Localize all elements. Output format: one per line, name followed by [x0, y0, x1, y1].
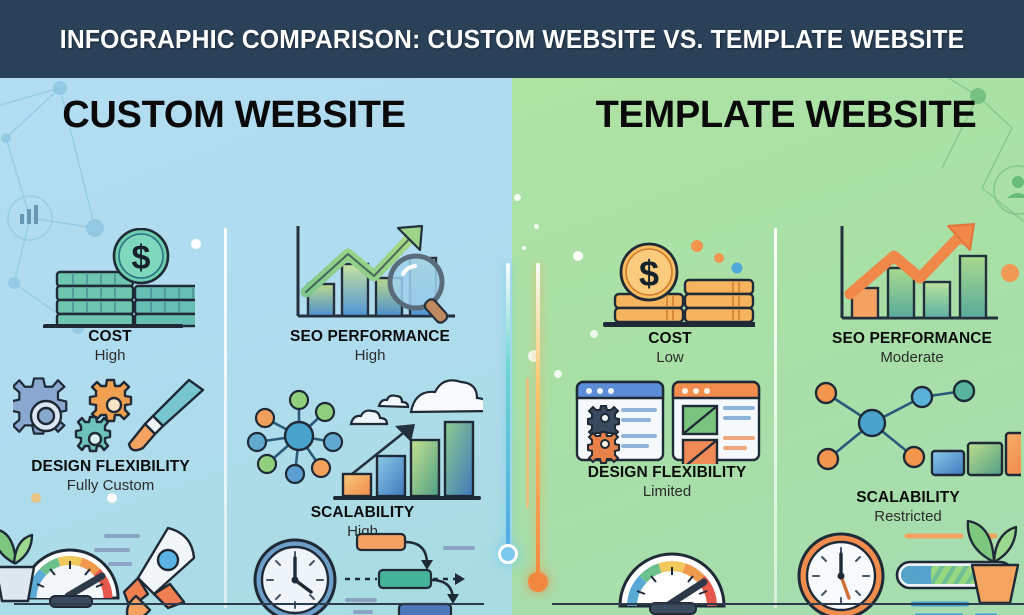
feature-development-time: DEVELOPMENT TIME Quick — [568, 524, 778, 615]
bar-chart-magnifier-icon — [255, 218, 485, 328]
comparison-panels: CUSTOM WEBSITE — [0, 78, 1024, 615]
feature-value: High — [10, 347, 210, 364]
feature-design-flexibility: DESIGN FLEXIBILITY Limited — [556, 378, 778, 500]
panel-template-website: TEMPLATE WEBSITE — [512, 78, 1024, 615]
gears-paintbrush-icon — [8, 374, 213, 458]
infographic-canvas: INFOGRAPHIC COMPARISON: CUSTOM WEBSITE V… — [0, 0, 1024, 615]
feature-label: DESIGN FLEXIBILITY — [8, 458, 213, 476]
svg-text:$: $ — [132, 239, 151, 277]
feature-label: SCALABILITY — [240, 504, 485, 522]
feature-value: Low — [570, 349, 770, 366]
feature-seo-performance: SEO PERFORMANCE Moderate — [802, 218, 1022, 366]
money-coins-icon: $ — [10, 228, 210, 328]
feature-scalability: SCALABILITY Restricted — [792, 373, 1024, 525]
panel-column-divider — [224, 228, 227, 608]
svg-text:$: $ — [639, 253, 659, 294]
gauge-icon — [568, 524, 778, 615]
plant-decoration-icon — [958, 509, 1024, 605]
header-bar: INFOGRAPHIC COMPARISON: CUSTOM WEBSITE V… — [0, 0, 1024, 78]
bar-chart-arrow-icon — [802, 218, 1022, 330]
feature-label: COST — [570, 330, 770, 348]
browser-templates-icon — [556, 378, 778, 464]
feature-scalability: SCALABILITY High — [240, 378, 485, 540]
panel-base-rule — [14, 603, 484, 605]
feature-value: High — [255, 347, 485, 364]
feature-workflow — [244, 528, 484, 615]
network-cloud-bars-icon — [240, 378, 485, 504]
feature-label: COST — [10, 328, 210, 346]
feature-seo-performance: SEO PERFORMANCE High — [255, 218, 485, 364]
panel-custom-website: CUSTOM WEBSITE — [0, 78, 512, 615]
clock-workflow-icon — [244, 528, 484, 615]
panel-title-custom: CUSTOM WEBSITE — [0, 94, 490, 137]
feature-label: DESIGN FLEXIBILITY — [556, 464, 778, 482]
panel-base-rule — [594, 603, 1024, 605]
money-coins-icon: $ — [570, 238, 770, 330]
feature-design-flexibility: DESIGN FLEXIBILITY Fully Custom — [8, 374, 213, 494]
panel-title-template: TEMPLATE WEBSITE — [530, 94, 1024, 137]
feature-label: SEO PERFORMANCE — [255, 328, 485, 346]
page-title: INFOGRAPHIC COMPARISON: CUSTOM WEBSITE V… — [60, 24, 965, 55]
feature-value: Moderate — [802, 349, 1022, 366]
feature-label: SCALABILITY — [792, 489, 1024, 507]
feature-label: SEO PERFORMANCE — [802, 330, 1022, 348]
feature-value: Fully Custom — [8, 477, 213, 494]
network-blocks-icon — [792, 373, 1024, 489]
feature-value: Limited — [556, 483, 778, 500]
plant-decoration-icon — [0, 519, 42, 605]
feature-cost: $ COST Low — [570, 238, 770, 366]
feature-cost: $ COST High — [10, 228, 210, 364]
